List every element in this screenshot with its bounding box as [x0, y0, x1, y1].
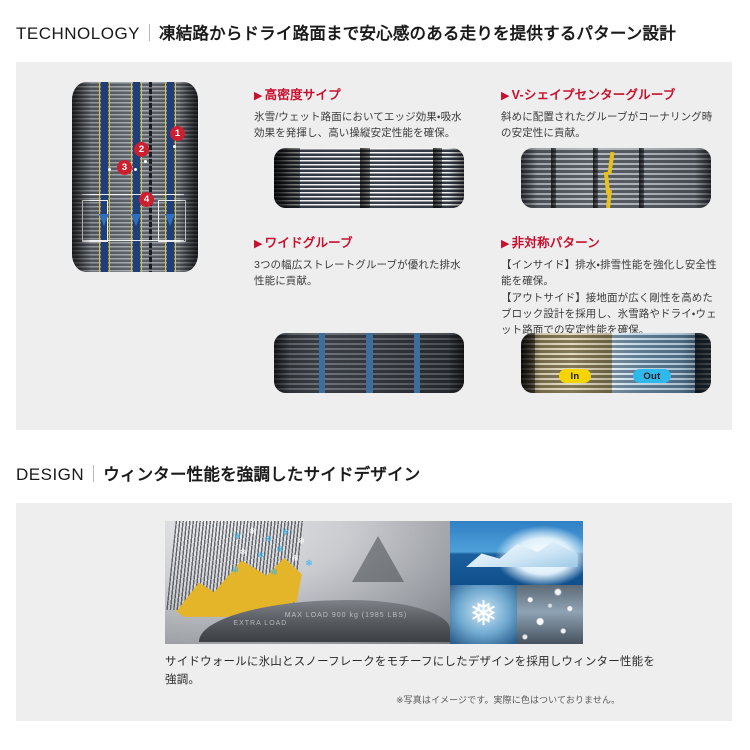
design-heading-eng: DESIGN [16, 465, 84, 485]
technology-panel: 1 2 3 4 ▶高密度サイプ 氷雪/ウェット路面においてエッジ効果・吸水効果を… [16, 62, 732, 430]
photo-edge-shade-left [274, 148, 290, 208]
feature-body: 3つの幅広ストレートグルーブが優れた排水性能に貢献。 [254, 257, 469, 290]
feature-title-text: V-シェイプセンターグルーブ [512, 88, 676, 102]
snowflake-icon: ❄ [297, 537, 305, 546]
feature-title: ▶V-シェイプセンターグルーブ [501, 84, 716, 103]
tread-rib-shadow-right [695, 333, 711, 393]
v-shape-center-groove [149, 82, 152, 272]
tire-tread-diagram: 1 2 3 4 [72, 82, 198, 272]
feature-title: ▶ワイドグルーブ [254, 232, 469, 251]
sidewall-triangle-motif [352, 536, 404, 582]
callout-dot-4 [108, 168, 111, 171]
design-panel: ❄ ❄ ❄ ❄ ❄ ❄ ❄ ❄ ❄ ❄ ❄ ❄ EXTRA LOAD MAX L… [16, 503, 732, 721]
triangle-bullet-icon: ▶ [501, 90, 510, 102]
ice-crystal-photo [517, 585, 583, 644]
feature-title-text: 高密度サイプ [265, 88, 341, 102]
triangle-bullet-icon: ▶ [254, 238, 263, 250]
groove-blue-center [133, 82, 140, 272]
groove-outline-left2 [109, 82, 110, 272]
feature-high-density-sipe: ▶高密度サイプ 氷雪/ウェット路面においてエッジ効果・吸水効果を発揮し、高い操縦… [254, 84, 464, 142]
callout-dot-2 [144, 160, 147, 163]
heading-divider [93, 465, 94, 482]
feature-body: 斜めに配置されたグルーブがコーナリング時の安定性に貢献。 [501, 109, 716, 142]
snowflake-cluster: ❄ ❄ ❄ ❄ ❄ ❄ ❄ ❄ ❄ ❄ ❄ ❄ [228, 526, 325, 590]
photo-edge-shade-left [274, 333, 290, 393]
feature-body: 【インサイド】排水・排雪性能を強化し安全性能を確保。 【アウトサイド】接地面が広… [501, 257, 719, 338]
tread-texture-grey [521, 148, 711, 208]
photo-edge-shade-right [448, 333, 464, 393]
groove-outline-left [99, 82, 100, 272]
snowflake-icon: ❄ [232, 566, 240, 575]
feature-title-text: 非対称パターン [512, 236, 600, 250]
tread-rib-shadow-b [593, 148, 598, 208]
direction-arrow-center [131, 214, 141, 226]
snowflake-icon: ❄ [239, 548, 247, 557]
tread-rib-shadow-right [433, 148, 442, 208]
groove-outline-right [165, 82, 166, 272]
tread-badge-2[interactable]: 2 [134, 142, 149, 157]
tread-rib-shadow-c [639, 148, 644, 208]
tread-rib-shadow-mid [360, 148, 370, 208]
groove-blue-right [167, 82, 174, 272]
triangle-bullet-icon: ▶ [501, 238, 510, 250]
feature-body: 氷雪/ウェット路面においてエッジ効果・吸水効果を発揮し、高い操縦安定性能を確保。 [254, 109, 464, 142]
snowflake-icon: ❄ [257, 551, 265, 560]
snowflake-icon: ❄ [282, 528, 290, 537]
feature-wide-groove: ▶ワイドグルーブ 3つの幅広ストレートグルーブが優れた排水性能に貢献。 [254, 232, 469, 290]
sidewall-emboss-text-1: EXTRA LOAD [233, 620, 287, 627]
groove-outline-center2 [141, 82, 142, 272]
design-heading-jp: ウィンター性能を強調したサイドデザイン [103, 461, 420, 485]
triangle-bullet-icon: ▶ [254, 90, 263, 102]
tire-shoulder-right [180, 82, 198, 272]
snowflake-icon: ❄ [305, 559, 313, 568]
callout-dot-3 [134, 168, 137, 171]
inside-label-pill: In [559, 369, 591, 383]
groove-outline-center [131, 82, 132, 272]
photo-edge-shade-left [521, 148, 537, 208]
direction-arrow-right [165, 214, 175, 226]
photo-asymmetric-pattern: In Out [521, 333, 711, 393]
sidewall-emboss-text-2: MAX LOAD 900 kg (1985 LBS) [285, 612, 408, 619]
tread-rib-shadow-a [551, 148, 556, 208]
photo-edge-shade-right [695, 148, 711, 208]
technology-heading-eng: TECHNOLOGY [16, 24, 140, 44]
feature-title: ▶非対称パターン [501, 232, 719, 251]
tire-shoulder-left [72, 82, 90, 272]
photo-wide-groove [274, 333, 464, 393]
snowflake-icon: ❄ [234, 532, 242, 541]
technology-heading: TECHNOLOGY 凍結路からドライ路面まで安心感のある走りを提供するパターン… [16, 20, 676, 44]
design-heading: DESIGN ウィンター性能を強調したサイドデザイン [16, 461, 421, 485]
page-root: TECHNOLOGY 凍結路からドライ路面まで安心感のある走りを提供するパターン… [0, 0, 750, 750]
heading-divider [149, 24, 150, 41]
snowflake-photo: ❅ [450, 585, 516, 644]
tire-sidewall-image: ❄ ❄ ❄ ❄ ❄ ❄ ❄ ❄ ❄ ❄ ❄ ❄ EXTRA LOAD MAX L… [165, 521, 450, 644]
iceberg-photo [450, 521, 583, 585]
photo-high-density-sipe [274, 148, 464, 208]
design-image-collage: ❄ ❄ ❄ ❄ ❄ ❄ ❄ ❄ ❄ ❄ ❄ ❄ EXTRA LOAD MAX L… [165, 521, 583, 644]
snowflake-icon: ❄ [249, 527, 257, 536]
measure-line-bottom [82, 240, 184, 241]
outside-label-pill: Out [633, 369, 671, 383]
tire-tread-surface [72, 82, 198, 272]
feature-asymmetric-pattern: ▶非対称パターン 【インサイド】排水・排雪性能を強化し安全性能を確保。 【アウト… [501, 232, 719, 338]
snowflake-icon: ❄ [292, 554, 300, 563]
direction-arrow-left [99, 214, 109, 226]
groove-outline-right2 [175, 82, 176, 272]
measure-line-top [82, 194, 184, 195]
design-note: ※写真はイメージです。実際に色はついておりません。 [396, 693, 620, 706]
tread-badge-3[interactable]: 3 [117, 160, 132, 175]
technology-heading-jp: 凍結路からドライ路面まで安心感のある走りを提供するパターン設計 [159, 20, 676, 44]
groove-blue-left [101, 82, 108, 272]
feature-title: ▶高密度サイプ [254, 84, 464, 103]
wide-groove-stripe-2 [366, 333, 373, 393]
snowflake-icon: ❄ [276, 545, 284, 554]
photo-edge-shade-right [448, 148, 464, 208]
tread-badge-1[interactable]: 1 [170, 126, 185, 141]
callout-dot-1 [173, 145, 176, 148]
snowflake-icon: ❅ [469, 597, 498, 631]
wide-groove-stripe-1 [319, 333, 325, 393]
design-caption: サイドウォールに氷山とスノーフレークをモチーフにしたデザインを採用しウィンター性… [165, 653, 665, 690]
snowflake-icon: ❄ [270, 568, 278, 577]
tread-rib-shadow-left [521, 333, 535, 393]
photo-v-shape-center-groove [521, 148, 711, 208]
tread-badge-4[interactable]: 4 [139, 192, 154, 207]
feature-title-text: ワイドグルーブ [265, 236, 353, 250]
snowflake-icon: ❄ [265, 535, 273, 544]
wide-groove-stripe-3 [414, 333, 420, 393]
feature-v-shape-center-groove: ▶V-シェイプセンターグルーブ 斜めに配置されたグルーブがコーナリング時の安定性… [501, 84, 716, 142]
